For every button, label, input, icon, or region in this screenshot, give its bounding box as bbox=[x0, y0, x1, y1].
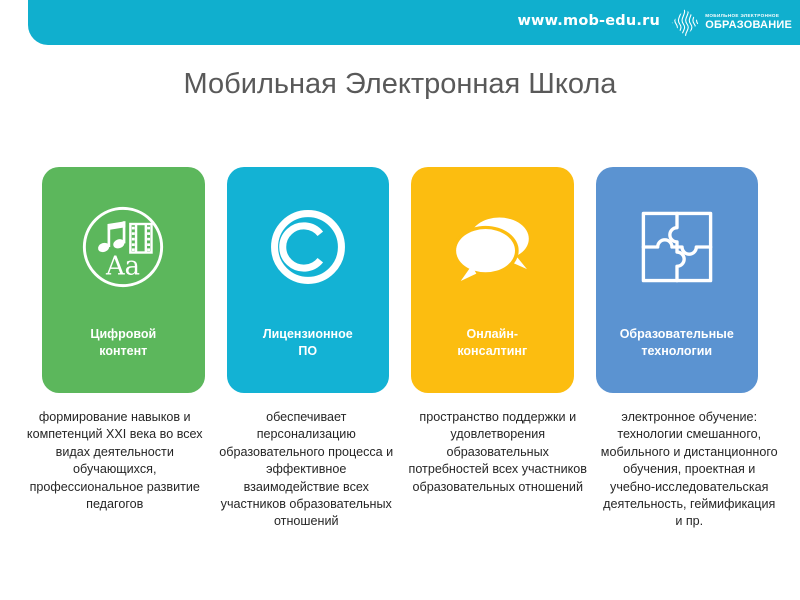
description-digital-content: формирование навыков и компетенций XXI в… bbox=[22, 409, 208, 531]
brand-name-line-2: ОБРАЗОВАНИЕ bbox=[705, 20, 792, 31]
card-label-line-2: контент bbox=[50, 343, 197, 360]
brand-logo: МОБИЛЬНОЕ ЭЛЕКТРОННОЕ ОБРАЗОВАНИЕ bbox=[671, 8, 792, 37]
card-label-line-1: Образовательные bbox=[604, 326, 751, 343]
card-label-line-1: Онлайн- bbox=[419, 326, 566, 343]
cards-row: Aa Цифровой контент Лицензионное ПО bbox=[42, 167, 758, 393]
wave-pattern-logo-mark-icon bbox=[671, 8, 700, 37]
descriptions-row: формирование навыков и компетенций XXI в… bbox=[22, 409, 782, 531]
card-online-consulting[interactable]: Онлайн- консалтинг bbox=[411, 167, 574, 393]
card-label-online-consulting: Онлайн- консалтинг bbox=[419, 326, 566, 359]
card-label-line-2: консалтинг bbox=[419, 343, 566, 360]
card-label-line-2: технологии bbox=[604, 343, 751, 360]
copyright-icon bbox=[262, 201, 354, 293]
description-educational-technologies: электронное обучение: технологии смешанн… bbox=[597, 409, 783, 531]
site-url-text: www.mob-edu.ru bbox=[517, 13, 660, 29]
brand-name-line-1: МОБИЛЬНОЕ ЭЛЕКТРОННОЕ bbox=[705, 14, 792, 19]
card-label-licensed-software: Лицензионное ПО bbox=[235, 326, 382, 359]
digital-content-icon: Aa bbox=[77, 201, 169, 293]
card-educational-technologies[interactable]: Образовательные технологии bbox=[596, 167, 759, 393]
card-label-line-1: Лицензионное bbox=[235, 326, 382, 343]
card-label-educational-technologies: Образовательные технологии bbox=[604, 326, 751, 359]
puzzle-icon bbox=[631, 201, 723, 293]
card-label-line-2: ПО bbox=[235, 343, 382, 360]
svg-text:Aa: Aa bbox=[105, 252, 140, 282]
card-label-digital-content: Цифровой контент bbox=[50, 326, 197, 359]
header-banner: www.mob-edu.ru МОБИЛЬНОЕ ЭЛЕКТРОННОЕ ОБР bbox=[28, 0, 800, 45]
brand-text: МОБИЛЬНОЕ ЭЛЕКТРОННОЕ ОБРАЗОВАНИЕ bbox=[705, 14, 792, 31]
description-online-consulting: пространство поддержки и удовлетворения … bbox=[405, 409, 591, 531]
speech-bubbles-icon bbox=[446, 201, 538, 293]
card-label-line-1: Цифровой bbox=[50, 326, 197, 343]
card-licensed-software[interactable]: Лицензионное ПО bbox=[227, 167, 390, 393]
description-licensed-software: обеспечивает персонализацию образователь… bbox=[214, 409, 400, 531]
card-digital-content[interactable]: Aa Цифровой контент bbox=[42, 167, 205, 393]
page-title: Мобильная Электронная Школа bbox=[0, 68, 800, 101]
